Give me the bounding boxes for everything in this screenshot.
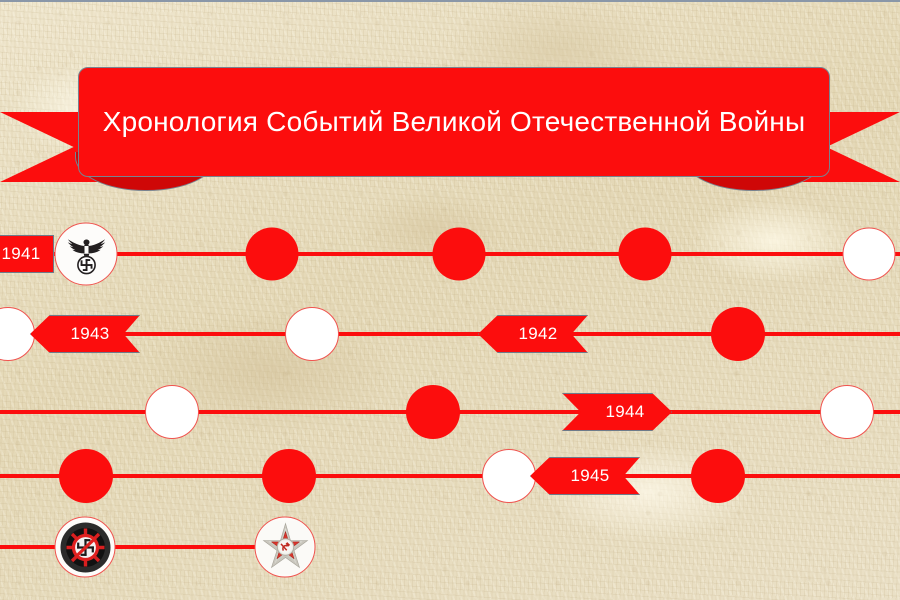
timeline-row-1945: 1945 [0,436,900,516]
title-ribbon: Хронология Событий Великой Отечественной… [0,57,900,182]
year-flag-label: 1945 [570,466,609,486]
timeline-node[interactable] [285,307,339,361]
timeline-node[interactable] [0,307,35,361]
presentation-slide: Хронология Событий Великой Отечественной… [0,0,900,600]
timeline-node[interactable] [262,449,316,503]
timeline-node[interactable] [59,449,113,503]
year-flag-1941[interactable]: 1941 [0,235,54,273]
timeline-node[interactable] [145,385,199,439]
reichsadler-eagle-icon [55,223,118,286]
timeline-track [0,332,900,336]
timeline-node[interactable] [820,385,874,439]
order-of-patriotic-war-medal-icon [255,517,316,578]
timeline-row-1941: 1941 [0,214,900,294]
timeline-node[interactable] [246,228,299,281]
title-banner: Хронология Событий Великой Отечественной… [78,67,830,177]
year-flag-label: 1942 [518,324,557,344]
year-flag-1945[interactable]: 1945 [530,457,640,495]
anti-fascist-badge-icon [55,517,116,578]
timeline-node[interactable] [482,449,536,503]
timeline-node[interactable] [619,228,672,281]
timeline-node[interactable] [843,228,896,281]
timeline-node[interactable] [433,228,486,281]
timeline-node[interactable] [406,385,460,439]
timeline-row-1943-1942: 1943 1942 [0,294,900,374]
year-flag-label: 1941 [1,244,40,264]
year-flag-1942[interactable]: 1942 [478,315,588,353]
timeline-track [0,474,900,478]
timeline-row-emblems [0,507,900,587]
timeline-node[interactable] [711,307,765,361]
year-flag-label: 1944 [605,402,644,422]
year-flag-label: 1943 [70,324,109,344]
timeline-node[interactable] [691,449,745,503]
page-title: Хронология Событий Великой Отечественной… [103,106,806,138]
year-flag-1943[interactable]: 1943 [30,315,140,353]
